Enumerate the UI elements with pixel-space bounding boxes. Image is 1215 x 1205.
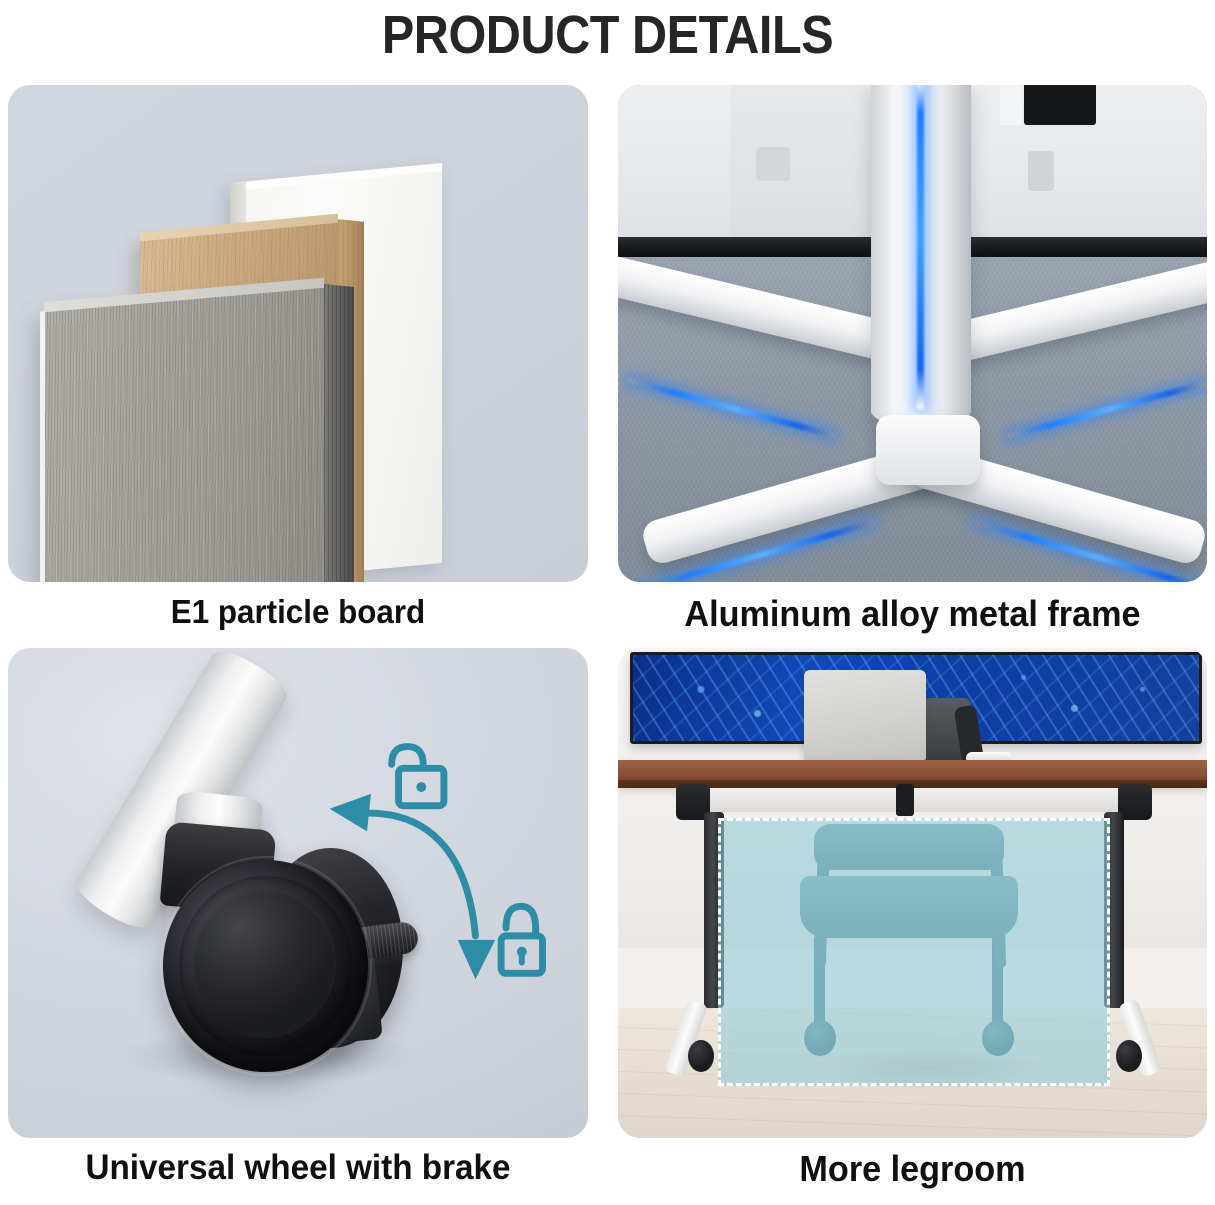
panel-more-legroom: More legroom	[618, 648, 1207, 1205]
particle-board-photo	[8, 85, 588, 582]
glow-highlight-column	[917, 85, 924, 409]
panel-caption-universal-wheel: Universal wheel with brake	[23, 1148, 574, 1188]
more-legroom-photo	[618, 648, 1207, 1138]
panel-background	[618, 85, 1207, 582]
frame-clamp-right	[1028, 151, 1054, 191]
panel-caption-more-legroom: More legroom	[633, 1148, 1193, 1190]
gray-board-sample	[44, 287, 324, 582]
panel-universal-wheel: Universal wheel with brake	[8, 648, 588, 1205]
panel-aluminum-frame: Aluminum alloy metal frame	[618, 85, 1207, 650]
arrow-head-unlock	[330, 794, 371, 831]
unlocked-padlock-icon	[392, 747, 444, 806]
page-title: PRODUCT DETAILS	[61, 0, 1155, 70]
desk-caster-left	[658, 1060, 696, 1104]
universal-wheel-photo	[8, 648, 588, 1138]
brake-annotation-overlay	[8, 648, 588, 1138]
panel-particle-board: E1 particle board	[8, 85, 588, 650]
frame-base-hub	[876, 415, 980, 485]
frame-black-fitting	[1024, 85, 1096, 125]
arrow-head-lock	[458, 940, 495, 979]
desk-caster-left-rear	[688, 1040, 714, 1072]
gray-board-side-edge	[324, 284, 354, 582]
product-details-grid: E1 particle board	[0, 72, 1215, 1205]
desk-bracket-center	[896, 784, 914, 816]
panel-background	[618, 648, 1207, 1138]
locked-padlock-icon	[501, 906, 542, 973]
laptop	[804, 670, 926, 760]
aluminum-frame-photo	[618, 85, 1207, 582]
panel-caption-aluminum-frame: Aluminum alloy metal frame	[633, 593, 1193, 635]
brake-toggle-arrow	[330, 794, 496, 979]
panel-caption-particle-board: E1 particle board	[23, 593, 574, 631]
frame-clamp-left	[756, 147, 790, 181]
legroom-area-outline	[718, 818, 1110, 1086]
desk-caster-right	[1134, 1060, 1172, 1104]
gray-board-left-edge	[40, 311, 45, 582]
